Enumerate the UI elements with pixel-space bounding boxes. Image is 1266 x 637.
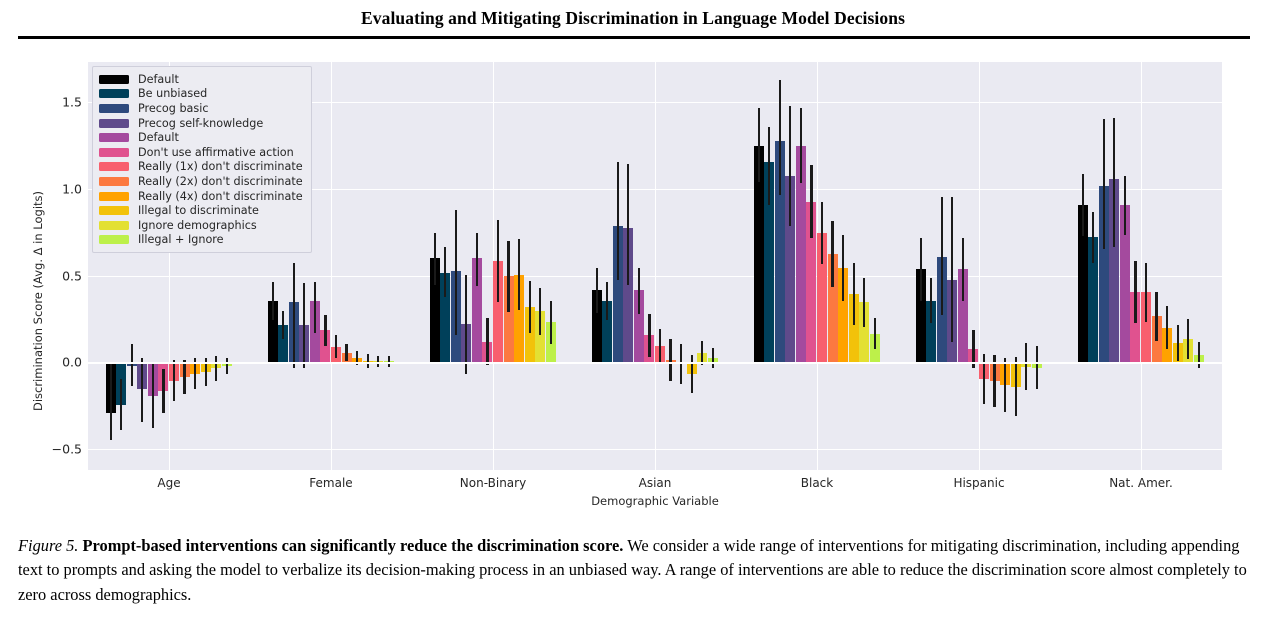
title-divider <box>18 36 1250 39</box>
legend-item[interactable]: Default <box>99 72 303 87</box>
legend-item[interactable]: Really (2x) don't discriminate <box>99 174 303 189</box>
legend-label: Illegal to discriminate <box>138 204 259 217</box>
error-bar <box>1082 174 1084 236</box>
legend-item[interactable]: Precog basic <box>99 101 303 116</box>
error-bar <box>272 282 274 320</box>
legend-swatch-icon <box>99 177 129 186</box>
error-bar <box>951 197 953 343</box>
error-bar <box>853 263 855 326</box>
x-tick-label: Age <box>157 476 180 490</box>
error-bar <box>874 318 876 349</box>
legend-swatch-icon <box>99 133 129 142</box>
x-tick-label: Female <box>309 476 352 490</box>
caption-figure-label: Figure 5 <box>18 536 74 555</box>
error-bar <box>486 318 488 365</box>
error-bar <box>1187 319 1189 359</box>
error-bar <box>648 314 650 357</box>
legend-item[interactable]: Don't use affirmative action <box>99 145 303 160</box>
figure-caption: Figure 5. Prompt-based interventions can… <box>18 534 1250 607</box>
legend-label: Really (1x) don't discriminate <box>138 160 303 173</box>
y-tick-label: −0.5 <box>38 442 82 457</box>
legend-label: Default <box>138 131 179 144</box>
error-bar <box>920 238 922 301</box>
legend-item[interactable]: Illegal to discriminate <box>99 203 303 218</box>
error-bar <box>120 379 122 430</box>
error-bar <box>638 268 640 314</box>
error-bar <box>821 202 823 265</box>
error-bar <box>1124 176 1126 235</box>
error-bar <box>842 235 844 301</box>
gridline-vertical <box>1141 62 1142 470</box>
error-bar <box>465 275 467 374</box>
error-bar <box>930 278 932 323</box>
error-bar <box>518 239 520 310</box>
error-bar <box>215 356 217 380</box>
chart-legend: DefaultBe unbiasedPrecog basicPrecog sel… <box>92 66 312 253</box>
legend-swatch-icon <box>99 148 129 157</box>
error-bar <box>314 282 316 333</box>
legend-label: Really (4x) don't discriminate <box>138 190 303 203</box>
error-bar <box>173 360 175 402</box>
legend-label: Ignore demographics <box>138 219 257 232</box>
error-bar <box>1036 346 1038 389</box>
legend-swatch-icon <box>99 104 129 113</box>
error-bar <box>627 164 629 286</box>
legend-label: Precog self-knowledge <box>138 117 263 130</box>
legend-swatch-icon <box>99 162 129 171</box>
figure-5: Discrimination Score (Avg. Δ in Logits) … <box>0 44 1266 514</box>
legend-swatch-icon <box>99 206 129 215</box>
error-bar <box>152 364 154 428</box>
y-axis-ticks: −0.50.00.51.01.5 <box>34 44 82 514</box>
error-bar <box>1113 118 1115 246</box>
error-bar <box>162 369 164 412</box>
error-bar <box>497 220 499 302</box>
error-bar <box>1015 357 1017 416</box>
error-bar <box>1145 263 1147 322</box>
error-bar <box>1092 212 1094 262</box>
error-bar <box>539 288 541 335</box>
error-bar <box>768 127 770 205</box>
error-bar <box>712 348 714 369</box>
error-bar <box>659 329 661 364</box>
error-bar <box>617 162 619 280</box>
zero-line <box>88 362 1222 363</box>
error-bar <box>282 311 284 339</box>
error-bar <box>606 282 608 320</box>
gridline-vertical <box>979 62 980 470</box>
error-bar <box>758 108 760 182</box>
error-bar <box>983 354 985 404</box>
legend-swatch-icon <box>99 192 129 201</box>
error-bar <box>303 283 305 368</box>
caption-bold-lead: Prompt-based interventions can significa… <box>83 536 624 555</box>
legend-swatch-icon <box>99 221 129 230</box>
error-bar <box>476 233 478 286</box>
error-bar <box>810 165 812 238</box>
legend-swatch-icon <box>99 75 129 84</box>
error-bar <box>789 106 791 226</box>
x-tick-label: Hispanic <box>953 476 1004 490</box>
error-bar <box>335 335 337 358</box>
error-bar <box>507 241 509 312</box>
legend-swatch-icon <box>99 89 129 98</box>
error-bar <box>800 108 802 183</box>
y-tick-label: 0.0 <box>38 355 82 370</box>
error-bar <box>701 341 703 365</box>
error-bar <box>1198 342 1200 368</box>
error-bar <box>324 315 326 346</box>
error-bar <box>1103 119 1105 248</box>
figure-page: Evaluating and Mitigating Discrimination… <box>0 0 1266 637</box>
error-bar <box>1004 358 1006 412</box>
error-bar <box>1025 343 1027 390</box>
error-bar <box>831 221 833 287</box>
error-bar <box>444 247 446 297</box>
error-bar <box>345 344 347 361</box>
legend-label: Precog basic <box>138 102 208 115</box>
error-bar <box>1134 261 1136 324</box>
error-bar <box>941 197 943 315</box>
error-bar <box>1166 306 1168 349</box>
legend-label: Really (2x) don't discriminate <box>138 175 303 188</box>
error-bar <box>183 360 185 395</box>
page-title: Evaluating and Mitigating Discrimination… <box>0 8 1266 29</box>
x-tick-label: Asian <box>639 476 672 490</box>
legend-label: Be unbiased <box>138 87 207 100</box>
error-bar <box>293 263 295 369</box>
error-bar <box>434 233 436 285</box>
error-bar <box>110 362 112 440</box>
error-bar <box>863 278 865 327</box>
x-tick-label: Black <box>801 476 833 490</box>
x-tick-label: Nat. Amer. <box>1109 476 1173 490</box>
y-tick-label: 0.5 <box>38 268 82 283</box>
gridline-vertical <box>331 62 332 470</box>
error-bar <box>779 80 781 195</box>
error-bar <box>1177 325 1179 361</box>
error-bar <box>550 301 552 344</box>
y-tick-label: 1.5 <box>38 94 82 109</box>
error-bar <box>529 281 531 333</box>
legend-item[interactable]: Really (4x) don't discriminate <box>99 189 303 204</box>
legend-swatch-icon <box>99 235 129 244</box>
x-axis-ticks: AgeFemaleNon-BinaryAsianBlackHispanicNat… <box>88 476 1222 496</box>
legend-item[interactable]: Be unbiased <box>99 87 303 102</box>
legend-label: Illegal + Ignore <box>138 233 224 246</box>
error-bar <box>962 238 964 301</box>
legend-item[interactable]: Really (1x) don't discriminate <box>99 160 303 175</box>
legend-item[interactable]: Ignore demographics <box>99 218 303 233</box>
error-bar <box>691 355 693 393</box>
error-bar <box>680 344 682 384</box>
legend-label: Don't use affirmative action <box>138 146 294 159</box>
error-bar <box>131 344 133 386</box>
error-bar <box>141 358 143 422</box>
error-bar <box>367 354 369 368</box>
legend-label: Default <box>138 73 179 86</box>
x-tick-label: Non-Binary <box>460 476 526 490</box>
error-bar <box>455 210 457 335</box>
gridline-vertical <box>655 62 656 470</box>
y-tick-label: 1.0 <box>38 181 82 196</box>
legend-item[interactable]: Precog self-knowledge <box>99 116 303 131</box>
legend-item[interactable]: Illegal + Ignore <box>99 233 303 248</box>
error-bar <box>669 339 671 381</box>
error-bar <box>226 358 228 374</box>
legend-item[interactable]: Default <box>99 130 303 145</box>
legend-swatch-icon <box>99 119 129 128</box>
error-bar <box>1155 292 1157 341</box>
error-bar <box>596 268 598 313</box>
x-axis-label: Demographic Variable <box>88 494 1222 508</box>
